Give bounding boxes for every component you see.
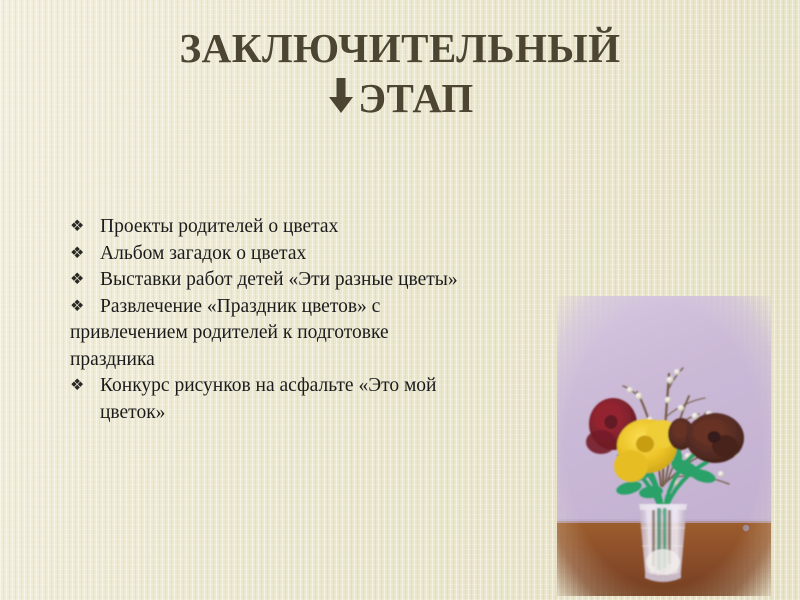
- list-item-line: Конкурс рисунков на асфальте «Это мой: [100, 375, 436, 396]
- list-item-line: цветок»: [100, 400, 562, 427]
- bullet-diamond-icon: ❖: [62, 294, 98, 321]
- title-line-2: ЭТАП: [70, 72, 730, 124]
- list-item-text: Выставки работ детей «Эти разные цветы»: [98, 267, 562, 294]
- list-item-line: праздника: [70, 347, 562, 374]
- bullet-list: ❖ Проекты родителей о цветах ❖ Альбом за…: [62, 214, 562, 426]
- list-item-text: Развлечение «Праздник цветов» с привлече…: [98, 294, 562, 374]
- list-item-line: Развлечение «Праздник цветов» с: [100, 296, 380, 317]
- down-arrow-icon: [326, 76, 356, 116]
- list-item-text: Конкурс рисунков на асфальте «Это мой цв…: [98, 373, 562, 426]
- bullet-diamond-icon: ❖: [62, 373, 98, 400]
- list-item: ❖ Проекты родителей о цветах: [62, 214, 562, 241]
- list-item-line: привлечением родителей к подготовке: [70, 320, 562, 347]
- bullet-diamond-icon: ❖: [62, 267, 98, 294]
- list-item: ❖ Выставки работ детей «Эти разные цветы…: [62, 267, 562, 294]
- bullet-diamond-icon: ❖: [62, 241, 98, 268]
- flower-vase-photo: [557, 296, 771, 596]
- flower-vase-photo-inner: [557, 296, 771, 596]
- list-item-text: Проекты родителей о цветах: [98, 214, 562, 241]
- list-item: ❖ Конкурс рисунков на асфальте «Это мой …: [62, 373, 562, 426]
- title-line-2-text: ЭТАП: [358, 75, 474, 121]
- list-item: ❖ Альбом загадок о цветах: [62, 241, 562, 268]
- bullet-diamond-icon: ❖: [62, 214, 98, 241]
- title-line-1: ЗАКЛЮЧИТЕЛЬНЫЙ: [70, 22, 730, 74]
- slide-canvas: ЗАКЛЮЧИТЕЛЬНЫЙ ЭТАП ❖ Проекты родителей …: [0, 0, 800, 600]
- page-title: ЗАКЛЮЧИТЕЛЬНЫЙ ЭТАП: [70, 22, 730, 124]
- list-item-text: Альбом загадок о цветах: [98, 241, 562, 268]
- list-item: ❖ Развлечение «Праздник цветов» с привле…: [62, 294, 562, 374]
